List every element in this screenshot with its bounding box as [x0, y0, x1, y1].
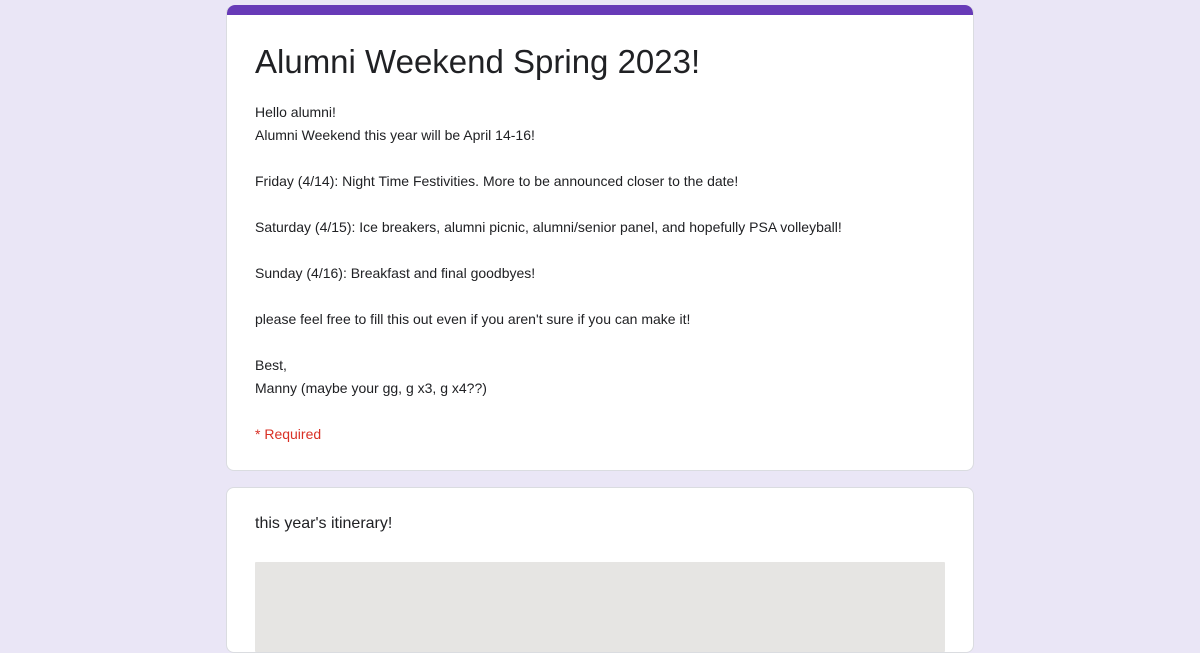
google-form-page: Alumni Weekend Spring 2023! Hello alumni…: [0, 0, 1200, 630]
description-paragraph: Hello alumni! Alumni Weekend this year w…: [255, 101, 945, 147]
description-line: Saturday (4/15): Ice breakers, alumni pi…: [255, 219, 842, 235]
card-spacer: [226, 471, 974, 487]
description-paragraph: Saturday (4/15): Ice breakers, alumni pi…: [255, 216, 945, 239]
description-paragraph: Sunday (4/16): Breakfast and final goodb…: [255, 262, 945, 285]
form-header-body: Alumni Weekend Spring 2023! Hello alumni…: [227, 15, 973, 470]
question-card[interactable]: this year's itinerary!: [226, 487, 974, 653]
description-paragraph: Friday (4/14): Night Time Festivities. M…: [255, 170, 945, 193]
question-title: this year's itinerary!: [255, 512, 945, 536]
itinerary-image: [255, 562, 945, 652]
required-note: * Required: [255, 424, 945, 444]
form-accent-stripe: [227, 5, 973, 15]
form-header-card: Alumni Weekend Spring 2023! Hello alumni…: [226, 5, 974, 471]
description-line: Manny (maybe your gg, g x3, g x4??): [255, 380, 487, 396]
form-column: Alumni Weekend Spring 2023! Hello alumni…: [226, 5, 974, 653]
description-line: Sunday (4/16): Breakfast and final goodb…: [255, 265, 535, 281]
description-line: Hello alumni!: [255, 104, 336, 120]
question-card-body: this year's itinerary!: [227, 488, 973, 652]
page-title: Alumni Weekend Spring 2023!: [255, 41, 945, 83]
description-line: Alumni Weekend this year will be April 1…: [255, 127, 535, 143]
form-description: Hello alumni! Alumni Weekend this year w…: [255, 101, 945, 400]
description-paragraph: please feel free to fill this out even i…: [255, 308, 945, 331]
description-line: please feel free to fill this out even i…: [255, 311, 690, 327]
description-line: Best,: [255, 357, 287, 373]
description-paragraph: Best, Manny (maybe your gg, g x3, g x4??…: [255, 354, 945, 400]
description-line: Friday (4/14): Night Time Festivities. M…: [255, 173, 738, 189]
